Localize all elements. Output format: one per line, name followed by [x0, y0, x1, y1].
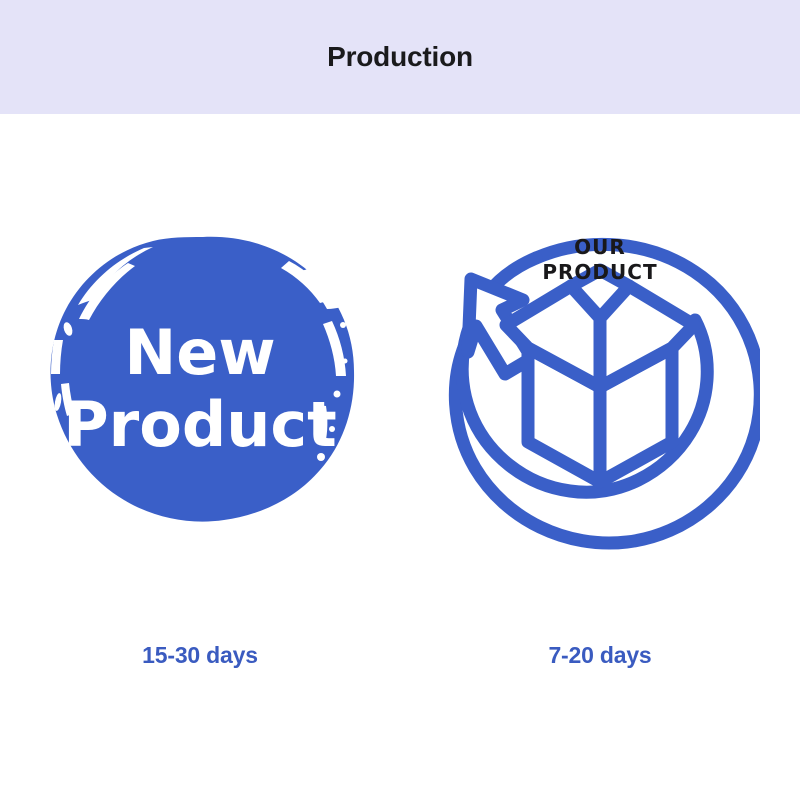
our-product-graphic-slot: OUR PRODUCT: [400, 224, 800, 554]
caption-new-product: 15-30 days: [0, 642, 400, 669]
product-box-icon: [506, 270, 694, 482]
caption-our-product: 7-20 days: [400, 642, 800, 669]
column-our-product: OUR PRODUCT 7-20 days: [400, 114, 800, 800]
badge-line-1: New: [124, 316, 275, 389]
page-title: Production: [327, 41, 473, 73]
box-label-line-2: PRODUCT: [542, 260, 657, 284]
our-product-box-cycle-icon: OUR PRODUCT: [440, 224, 760, 554]
header-band: Production: [0, 0, 800, 114]
production-comparison-page: Production: [0, 0, 800, 800]
content-area: New Product 15-30 days: [0, 114, 800, 800]
badge-line-2: Product: [63, 388, 337, 461]
box-label-line-1: OUR: [574, 235, 626, 259]
column-new-product: New Product 15-30 days: [0, 114, 400, 800]
new-product-brush-badge-icon: New Product: [40, 224, 360, 554]
new-product-graphic-slot: New Product: [0, 224, 400, 554]
